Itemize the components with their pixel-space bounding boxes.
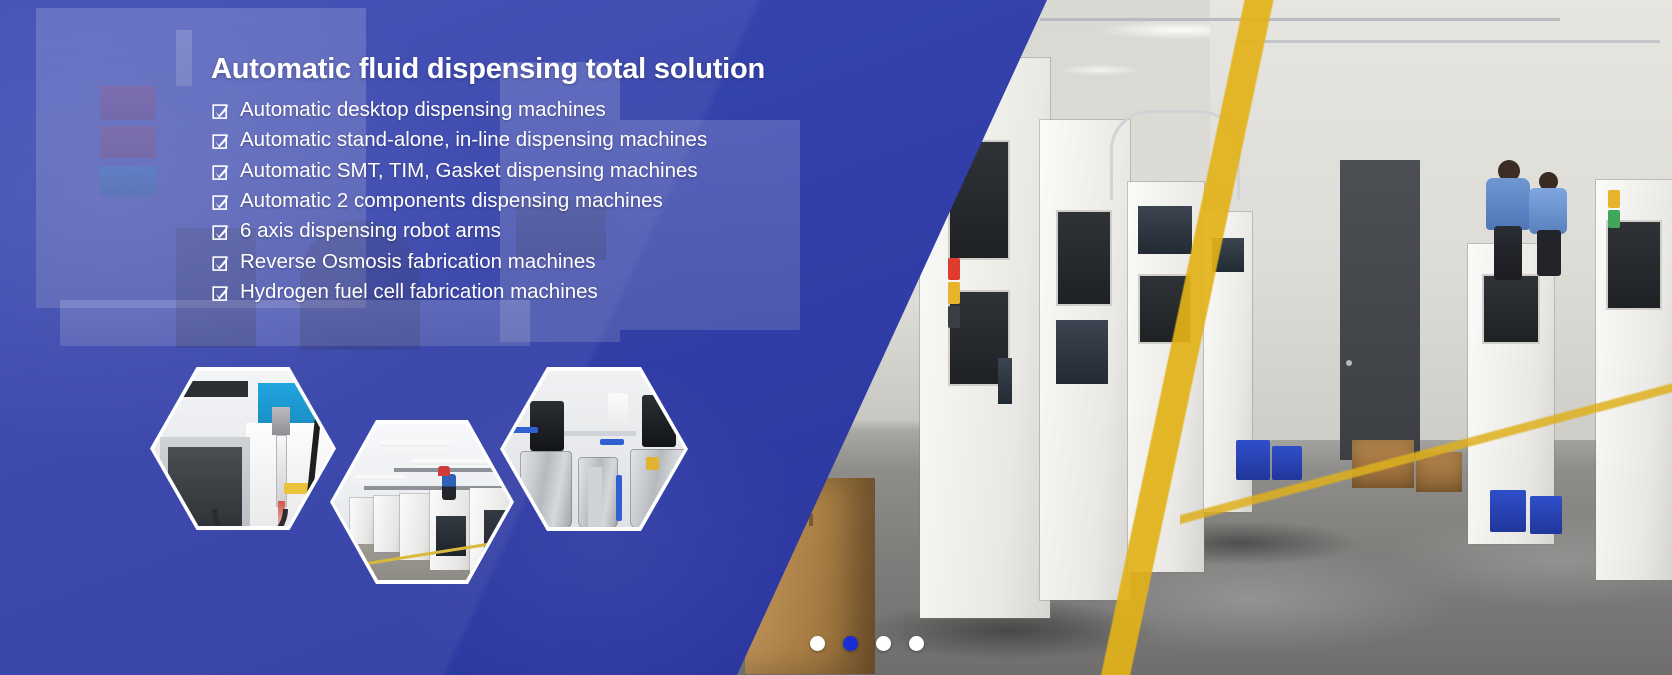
- list-item-label: Automatic desktop dispensing machines: [240, 98, 606, 122]
- checkbox-checked-icon: [212, 102, 229, 119]
- checkbox-checked-icon: [212, 223, 229, 240]
- carousel-dot-4[interactable]: [909, 636, 924, 651]
- banner-headline: Automatic fluid dispensing total solutio…: [211, 53, 765, 86]
- carousel-dot-2[interactable]: [843, 636, 858, 651]
- list-item-label: Automatic SMT, TIM, Gasket dispensing ma…: [240, 159, 698, 183]
- list-item: 6 axis dispensing robot arms: [212, 216, 832, 246]
- feature-list: Automatic desktop dispensing machines Au…: [212, 95, 832, 307]
- checkbox-checked-icon: [212, 283, 229, 300]
- carousel-pagination[interactable]: [810, 636, 924, 651]
- hero-banner-carousel[interactable]: Automatic fluid dispensing total solutio…: [0, 0, 1672, 675]
- list-item-label: Automatic stand-alone, in-line dispensin…: [240, 128, 707, 152]
- list-item: Automatic stand-alone, in-line dispensin…: [212, 125, 832, 155]
- list-item-label: Hydrogen fuel cell fabrication machines: [240, 280, 598, 304]
- carousel-dot-3[interactable]: [876, 636, 891, 651]
- list-item: Hydrogen fuel cell fabrication machines: [212, 277, 832, 307]
- list-item: Automatic 2 components dispensing machin…: [212, 186, 832, 216]
- list-item: Reverse Osmosis fabrication machines: [212, 246, 832, 276]
- list-item-label: Reverse Osmosis fabrication machines: [240, 250, 595, 274]
- list-item-label: 6 axis dispensing robot arms: [240, 219, 501, 243]
- list-item-label: Automatic 2 components dispensing machin…: [240, 189, 663, 213]
- checkbox-checked-icon: [212, 162, 229, 179]
- checkbox-checked-icon: [212, 253, 229, 270]
- list-item: Automatic desktop dispensing machines: [212, 95, 832, 125]
- list-item: Automatic SMT, TIM, Gasket dispensing ma…: [212, 156, 832, 186]
- checkbox-checked-icon: [212, 132, 229, 149]
- carousel-dot-1[interactable]: [810, 636, 825, 651]
- checkbox-checked-icon: [212, 193, 229, 210]
